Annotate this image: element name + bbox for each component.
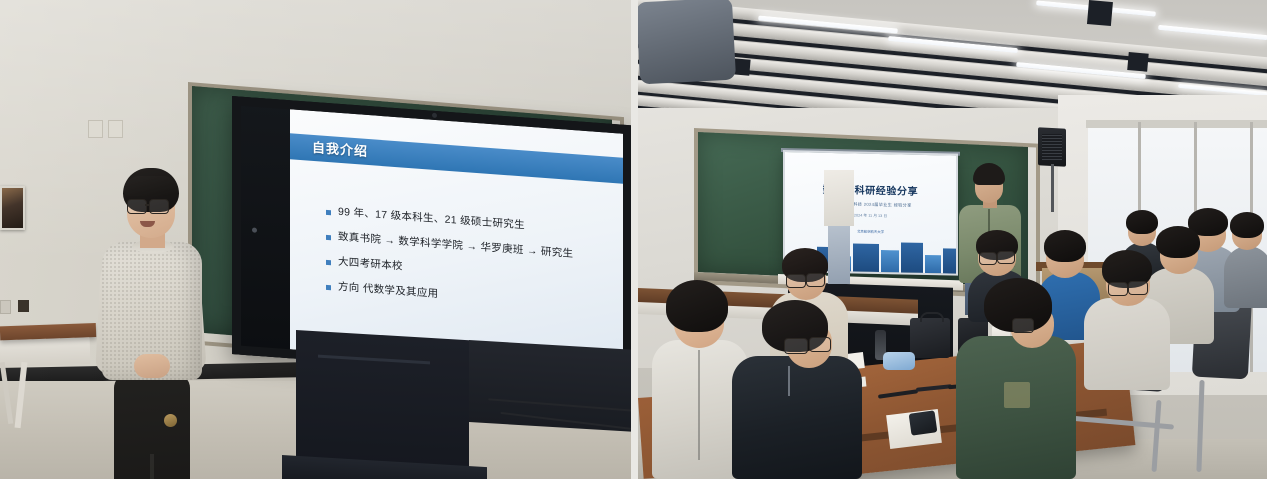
backpack — [910, 318, 950, 358]
speaker-hair — [973, 163, 1005, 185]
skyline-building — [901, 242, 923, 272]
audience-torso — [1084, 298, 1170, 390]
glasses-icon — [1128, 281, 1148, 295]
glasses-icon — [127, 199, 147, 214]
hoodie-cord — [788, 366, 790, 396]
presenter-hands — [134, 354, 170, 378]
photo-collage: 自我介绍 99 年、17 级本科生、21 级硕士研究生 致真书院 → 数学科学学… — [0, 0, 1267, 479]
wall-outlet-icon — [0, 300, 11, 314]
blue-pouch — [883, 352, 915, 370]
display-camera-icon — [432, 113, 437, 118]
audience-hair — [1044, 230, 1086, 262]
smartphone — [909, 410, 938, 435]
glasses-icon — [786, 274, 806, 288]
glasses-icon — [979, 252, 997, 265]
projection-subtitle-1: 2019级数学科技 2024届毕业生 经验分享 — [785, 200, 956, 210]
presenter-figure — [96, 168, 208, 479]
photo-divider — [631, 0, 638, 479]
skyline-building — [881, 250, 899, 272]
wall-outlet-icon — [18, 300, 29, 312]
presenter-trouser-logo — [164, 414, 177, 427]
glasses-icon — [149, 199, 169, 214]
light-switch-icon — [88, 120, 103, 138]
glasses-icon — [1012, 318, 1034, 333]
skyline-building — [925, 255, 941, 273]
backpack-on-chair — [638, 0, 736, 84]
skyline-building — [943, 248, 957, 273]
speaker-grille-icon — [1042, 134, 1062, 160]
audience-hair — [666, 280, 728, 332]
audience-member — [1084, 250, 1170, 390]
ceiling-recess — [1127, 52, 1148, 72]
wall-picture-frame — [0, 186, 25, 230]
audience-torso — [732, 356, 862, 479]
side-table-apron — [0, 336, 90, 367]
glasses-icon — [806, 273, 825, 287]
audience-torso — [1224, 246, 1267, 308]
ceiling-light — [1158, 25, 1267, 40]
projection-subtitle-2: 2024 年 11 月 13 日 — [785, 212, 956, 221]
glass-partition-header — [1086, 120, 1267, 128]
audience-member — [1224, 212, 1267, 308]
jacket-zip — [698, 350, 700, 460]
audience-hair — [1230, 212, 1264, 238]
skyline-building — [853, 243, 879, 272]
right-photo: w 数学与科研经验分享 2019级数学科技 2024届毕业生 经验分享 2024… — [638, 0, 1267, 479]
presenter-trouser-seam — [150, 454, 154, 479]
glasses-icon — [784, 338, 808, 354]
projection-title: 数学与科研经验分享 — [785, 180, 956, 199]
speaker-bracket — [1051, 164, 1054, 212]
light-switch-icon — [108, 120, 123, 138]
standing-student-top — [824, 170, 854, 226]
presenter-fringe — [124, 176, 178, 196]
display-stand-column — [296, 330, 469, 472]
glasses-icon — [809, 337, 831, 352]
left-photo: 自我介绍 99 年、17 级本科生、21 级硕士研究生 致真书院 → 数学科学学… — [0, 0, 633, 479]
glasses-icon — [1108, 282, 1128, 296]
audience-member — [956, 278, 1076, 479]
backpack-handle — [920, 312, 944, 322]
glasses-icon — [997, 251, 1015, 264]
jacket-patch — [1004, 382, 1030, 408]
audience-member — [732, 300, 862, 479]
glasses-bridge-icon — [145, 204, 150, 206]
ceiling-recess — [1087, 0, 1113, 26]
